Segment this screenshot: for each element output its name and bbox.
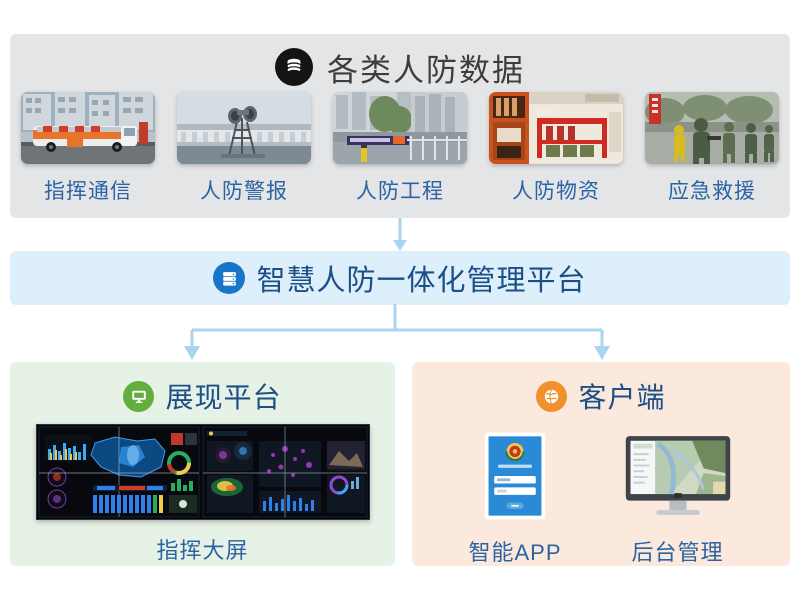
connector-data-to-platform [385, 218, 415, 254]
connector-platform-to-sections [150, 304, 650, 364]
client-device-app[interactable]: 智能APP [468, 422, 561, 567]
display-platform-panel: 展现平台 [10, 362, 395, 566]
platform-banner: 智慧人防一体化管理平台 [10, 251, 790, 305]
client-device-list: 智能APP [412, 422, 790, 567]
command-video-wall-dashboard[interactable] [36, 424, 370, 520]
data-card-supplies[interactable]: 人防物资 [489, 92, 623, 205]
command-vehicle-photo [21, 92, 155, 164]
client-header: 客户端 [412, 376, 790, 416]
globe-icon [536, 381, 567, 412]
air-defense-siren-photo [177, 92, 311, 164]
monitor-icon [123, 381, 154, 412]
data-card-label: 人防工程 [356, 175, 444, 205]
data-card-label: 人防物资 [512, 175, 600, 205]
client-device-admin[interactable]: 后台管理 [622, 422, 734, 567]
data-card-label: 指挥通信 [44, 175, 132, 205]
supplies-cabinet-photo [489, 92, 623, 164]
mobile-login-screen [481, 422, 549, 522]
client-panel: 客户端 [412, 362, 790, 566]
data-card-list: 指挥通信 [10, 92, 790, 205]
emergency-rescue-drill-photo [645, 92, 779, 164]
data-card-air-defense-siren[interactable]: 人防警报 [177, 92, 311, 205]
data-sources-header: 各类人防数据 [10, 44, 790, 90]
platform-title: 智慧人防一体化管理平台 [256, 257, 586, 299]
display-platform-title: 展现平台 [165, 376, 281, 416]
civil-defense-works-photo [333, 92, 467, 164]
data-card-emergency-rescue[interactable]: 应急救援 [645, 92, 779, 205]
client-title: 客户端 [578, 376, 665, 416]
display-platform-item-label: 指挥大屏 [156, 533, 248, 565]
database-icon [275, 48, 313, 86]
display-platform-content: 指挥大屏 [10, 424, 395, 565]
data-card-label: 应急救援 [668, 175, 756, 205]
data-card-label: 人防警报 [200, 175, 288, 205]
client-device-label: 智能APP [468, 535, 561, 567]
diagram-canvas: 各类人防数据 [0, 0, 800, 600]
client-device-label: 后台管理 [632, 535, 724, 567]
display-platform-header: 展现平台 [10, 376, 395, 416]
server-rack-icon [213, 262, 245, 294]
data-card-command-communication[interactable]: 指挥通信 [21, 92, 155, 205]
desktop-map-monitor [622, 422, 734, 522]
page-title: 各类人防数据 [327, 45, 525, 90]
data-card-civil-defense-works[interactable]: 人防工程 [333, 92, 467, 205]
data-sources-panel: 各类人防数据 [10, 34, 790, 218]
